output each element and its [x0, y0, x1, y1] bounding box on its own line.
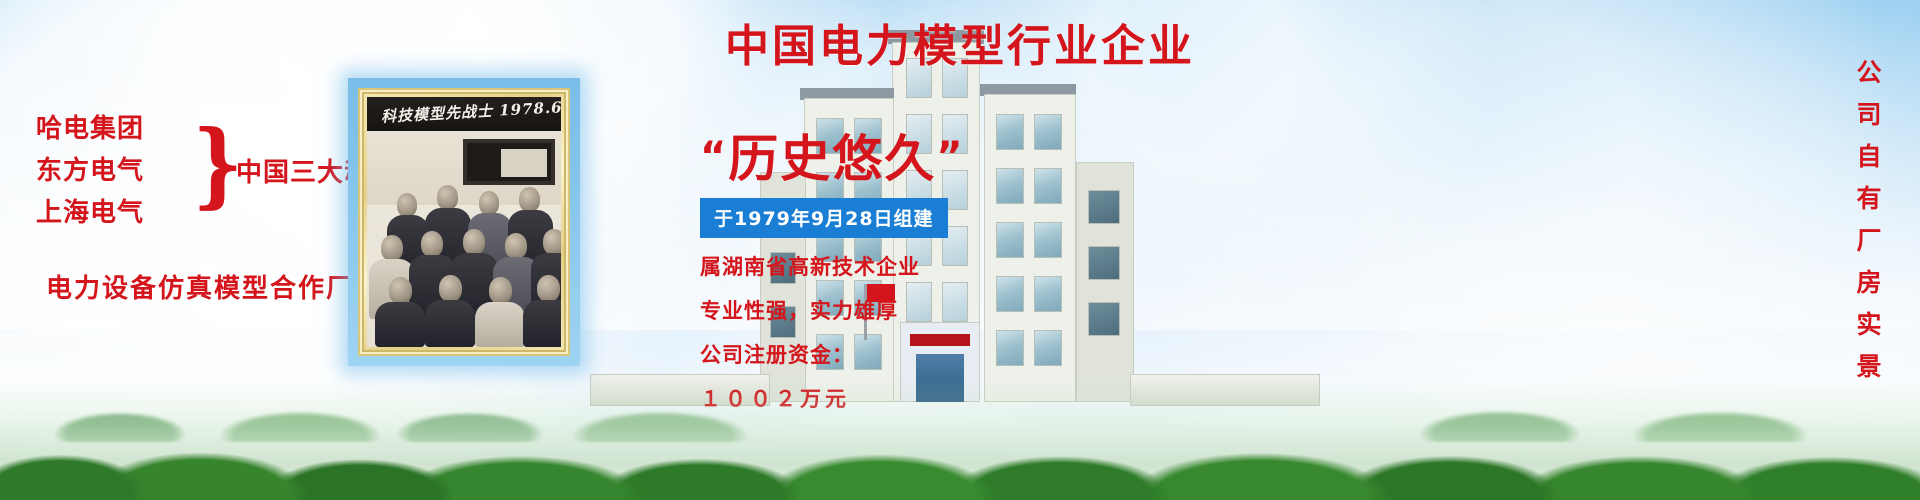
brand-item-2: 东方电气 — [36, 150, 196, 192]
page-title: 中国电力模型行业企业 — [725, 21, 1195, 72]
framed-photo: 科技模型先战士 1978.6 — [348, 78, 580, 366]
center-line-3: 公司注册资金： — [700, 340, 1020, 370]
quote-close: ” — [936, 134, 964, 180]
slogan-text: 历史悠久 — [728, 130, 936, 188]
vertical-char-7: 实 — [1848, 304, 1890, 346]
vertical-char-6: 房 — [1848, 262, 1890, 304]
brand-item-1: 哈电集团 — [36, 108, 196, 150]
quote-open: “ — [700, 134, 728, 180]
vertical-char-5: 厂 — [1848, 220, 1890, 262]
right-vertical-caption: 公 司 自 有 厂 房 实 景 — [1848, 52, 1890, 388]
vertical-char-4: 有 — [1848, 178, 1890, 220]
center-line-1: 属湖南省高新技术企业 — [700, 252, 1020, 282]
historic-group-photo: 科技模型先战士 1978.6 — [367, 97, 561, 347]
photo-people-group — [367, 179, 561, 347]
brand-item-3: 上海电气 — [36, 192, 196, 234]
slogan-line: “历史悠久” — [700, 128, 1020, 188]
center-line-2: 专业性强，实力雄厚 — [700, 296, 1020, 326]
promo-banner: 中国电力模型行业企业 哈电集团 东方电气 上海电气 } 中国三大动力 电力设备仿… — [0, 0, 1920, 500]
vertical-char-1: 公 — [1848, 52, 1890, 94]
partner-line: 电力设备仿真模型合作厂家 — [46, 268, 382, 305]
brand-list: 哈电集团 东方电气 上海电气 } 中国三大动力 — [36, 108, 196, 234]
foreground-treeline — [0, 380, 1920, 500]
vertical-char-2: 司 — [1848, 94, 1890, 136]
left-text-block: 哈电集团 东方电气 上海电气 } 中国三大动力 电力设备仿真模型合作厂家 — [36, 108, 366, 234]
photo-frame-border: 科技模型先战士 1978.6 — [358, 88, 570, 356]
founded-date-badge: 于1979年9月28日组建 — [700, 198, 948, 238]
vertical-char-3: 自 — [1848, 136, 1890, 178]
